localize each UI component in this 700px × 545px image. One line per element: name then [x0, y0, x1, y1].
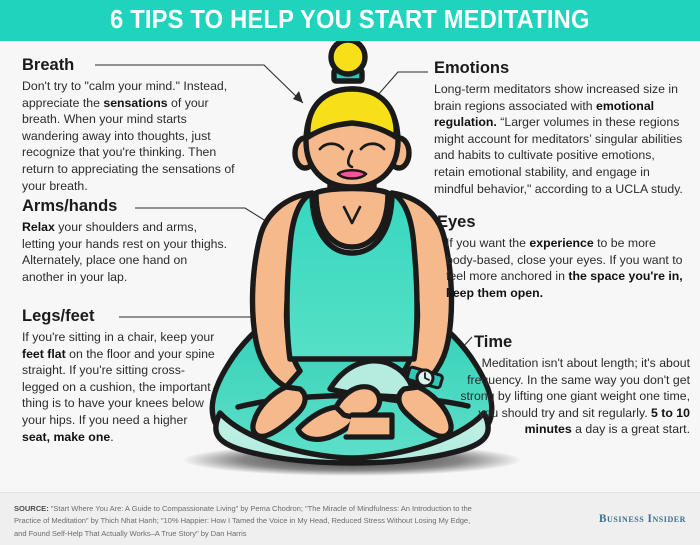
business-insider-logo: Business Insider — [599, 513, 686, 525]
tip-legs-body: If you're sitting in a chair, keep your … — [22, 329, 218, 445]
hair-bun — [331, 41, 365, 74]
footer: SOURCE: "Start Where You Are: A Guide to… — [0, 492, 700, 545]
tip-breath-body: Don't try to "calm your mind." Instead, … — [22, 78, 236, 194]
tip-time: Time Meditation isn't about length; it's… — [452, 334, 690, 438]
tip-breath: Breath Don't try to "calm your mind." In… — [22, 57, 236, 194]
tip-time-body: Meditation isn't about length; it's abou… — [452, 355, 690, 438]
header-band: 6 TIPS TO HELP YOU START MEDITATING — [0, 0, 700, 41]
tip-emotions-body: Long-term meditators show increased size… — [434, 81, 688, 197]
tip-eyes-heading: Eyes — [437, 214, 684, 231]
tip-time-heading: Time — [474, 334, 690, 351]
lips — [338, 170, 366, 178]
tip-legs-feet: Legs/feet If you're sitting in a chair, … — [22, 308, 218, 445]
head — [295, 41, 409, 187]
tip-eyes: Eyes If you want the experience to be mo… — [446, 214, 684, 301]
page-title: 6 TIPS TO HELP YOU START MEDITATING — [110, 6, 590, 35]
tip-arms-heading: Arms/hands — [22, 198, 228, 215]
tip-legs-heading: Legs/feet — [22, 308, 218, 325]
torso — [253, 171, 452, 387]
tip-breath-heading: Breath — [22, 57, 236, 74]
source-text: "Start Where You Are: A Guide to Compass… — [14, 504, 472, 538]
source-note: SOURCE: "Start Where You Are: A Guide to… — [14, 503, 484, 540]
arrowhead-breath — [293, 91, 303, 103]
ankle-block — [346, 415, 392, 437]
tip-eyes-body: If you want the experience to be more bo… — [446, 235, 684, 301]
tip-emotions: Emotions Long-term meditators show incre… — [434, 60, 688, 197]
tip-arms-hands: Arms/hands Relax your shoulders and arms… — [22, 198, 228, 285]
infographic-page: 6 TIPS TO HELP YOU START MEDITATING — [0, 0, 700, 545]
tip-emotions-heading: Emotions — [434, 60, 688, 77]
source-label: SOURCE: — [14, 504, 49, 513]
tip-arms-body: Relax your shoulders and arms, letting y… — [22, 219, 228, 285]
